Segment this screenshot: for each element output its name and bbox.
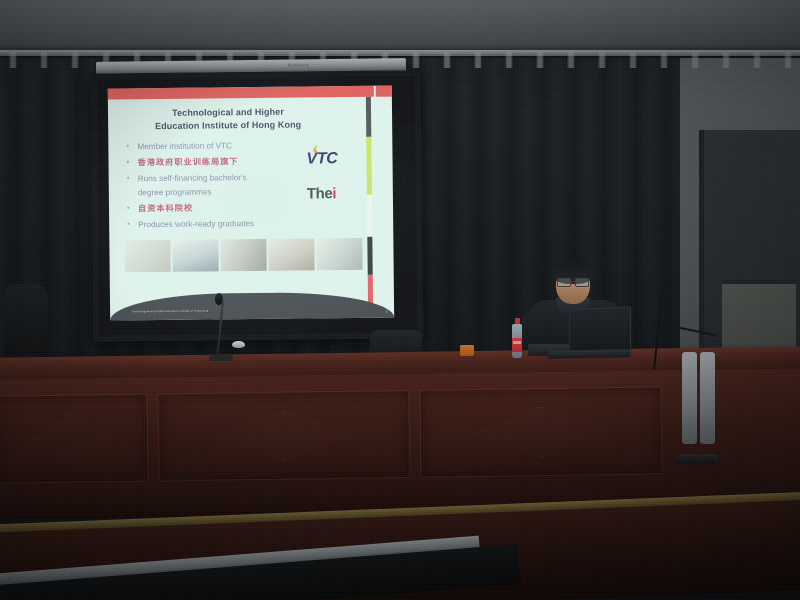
collage-photo-3: [220, 239, 266, 271]
vtc-logo-text: VTC: [306, 150, 337, 167]
microphone-base: [209, 355, 233, 361]
slide-bullet-list: Member institution of VTC 香港政府职业训练局旗下 Ru…: [124, 139, 300, 234]
slide-bullet-5: Produces work-ready graduates: [125, 216, 300, 231]
slide-accent-strip: [366, 97, 373, 318]
slide-number: 2: [386, 309, 389, 314]
bottle-label: [512, 338, 522, 352]
bottle-cap: [515, 318, 520, 324]
standing-person-leg-left: [682, 352, 697, 444]
slide-accent-gap: [374, 86, 378, 318]
slide-bullet-3: Runs self-financing bachelor's degree pr…: [125, 171, 300, 200]
slide-title: Technological and Higher Education Insti…: [122, 105, 334, 132]
slide-bullet-1: Member institution of VTC: [124, 139, 299, 154]
slide-footer-shape: [110, 292, 394, 321]
glasses-icon: [557, 278, 589, 285]
laptop-keyboard: [547, 349, 631, 358]
slide-title-line2: Education Institute of Hong Kong: [122, 118, 334, 133]
lecture-hall-photo: Bonboard Technological and Higher Educat…: [0, 0, 800, 600]
presentation-slide: Technological and Higher Education Insti…: [108, 86, 394, 321]
water-bottle: [512, 318, 522, 358]
slide-header-bar: [108, 86, 392, 100]
slide-bullet-2-text: 香港政府职业训练局旗下: [137, 157, 238, 167]
collage-photo-5: [316, 238, 362, 270]
thei-logo-accent: i: [332, 185, 336, 202]
vtc-logo: VTC: [306, 148, 358, 171]
slide-bullet-5-text: Produces work-ready graduates: [138, 219, 254, 229]
standing-person-leg-right: [700, 352, 715, 444]
desk-panel-2: [157, 390, 410, 482]
projection-screen: Technological and Higher Education Insti…: [91, 70, 424, 341]
collage-photo-1: [124, 240, 170, 272]
slide-bullet-3-text: Runs self-financing bachelor's: [138, 173, 247, 183]
desk-panel-3: [419, 386, 662, 477]
standing-person: [678, 352, 722, 462]
slide-bullet-1-text: Member institution of VTC: [137, 141, 232, 151]
desk-panel-1: [0, 394, 149, 484]
collage-photo-4: [268, 238, 314, 270]
slide-bullet-4-text: 自资本科院校: [138, 203, 193, 213]
computer-mouse: [232, 341, 245, 348]
slide-bullet-4: 自资本科院校: [125, 200, 300, 215]
screen-brand-label: Bonboard: [288, 62, 309, 67]
orange-object: [460, 345, 474, 356]
slide-bullet-3-text-line2: degree programmes: [138, 184, 300, 199]
thei-logo-text: The: [307, 185, 333, 202]
standing-person-shoe-right: [696, 454, 720, 464]
thei-logo: Thei: [307, 185, 336, 202]
collage-photo-2: [172, 239, 218, 271]
slide-photo-collage: [124, 238, 362, 272]
slide-bullet-2: 香港政府职业训练局旗下: [124, 155, 299, 170]
chair-left: [4, 284, 48, 354]
